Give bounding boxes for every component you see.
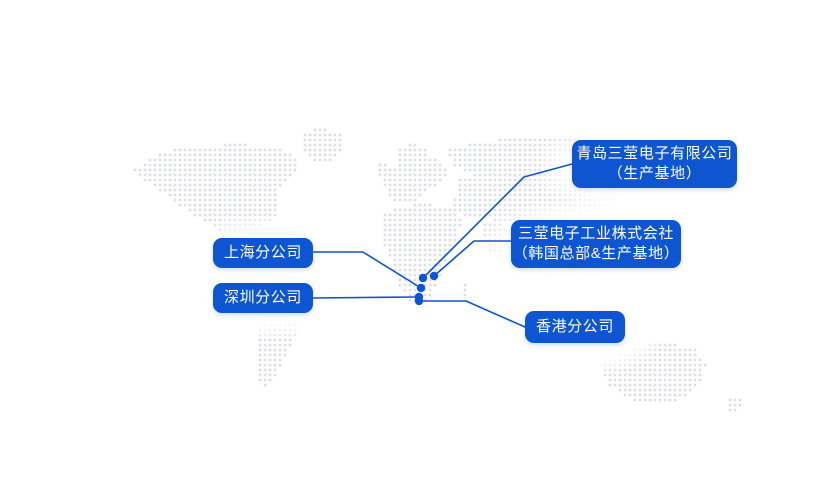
marker-hongkong[interactable] — [415, 297, 423, 305]
label-shenzhen-line1: 深圳分公司 — [224, 288, 302, 308]
label-shanghai-line1: 上海分公司 — [224, 243, 302, 263]
connector-shanghai — [313, 252, 421, 288]
label-korea-line1: 三莹电子工业株式会社 — [518, 224, 674, 244]
label-qingdao[interactable]: 青岛三莹电子有限公司 （生产基地） — [572, 140, 737, 188]
label-hongkong-line1: 香港分公司 — [536, 317, 614, 337]
label-qingdao-line1: 青岛三莹电子有限公司 — [576, 144, 732, 164]
connector-korea — [434, 241, 511, 276]
label-hongkong[interactable]: 香港分公司 — [525, 311, 625, 343]
connector-lines — [0, 0, 824, 480]
marker-shanghai[interactable] — [417, 284, 425, 292]
marker-korea[interactable] — [430, 272, 438, 280]
label-korea-line2: （韩国总部&生产基地） — [513, 244, 680, 264]
connector-shenzhen — [313, 297, 419, 298]
map-canvas-root: 青岛三莹电子有限公司 （生产基地） 三莹电子工业株式会社 （韩国总部&生产基地）… — [0, 0, 824, 480]
label-shenzhen[interactable]: 深圳分公司 — [213, 283, 313, 313]
label-qingdao-line2: （生产基地） — [608, 164, 702, 184]
connector-hongkong — [419, 301, 525, 327]
label-shanghai[interactable]: 上海分公司 — [213, 238, 313, 268]
label-korea[interactable]: 三莹电子工业株式会社 （韩国总部&生产基地） — [511, 220, 681, 268]
marker-qingdao[interactable] — [419, 274, 427, 282]
